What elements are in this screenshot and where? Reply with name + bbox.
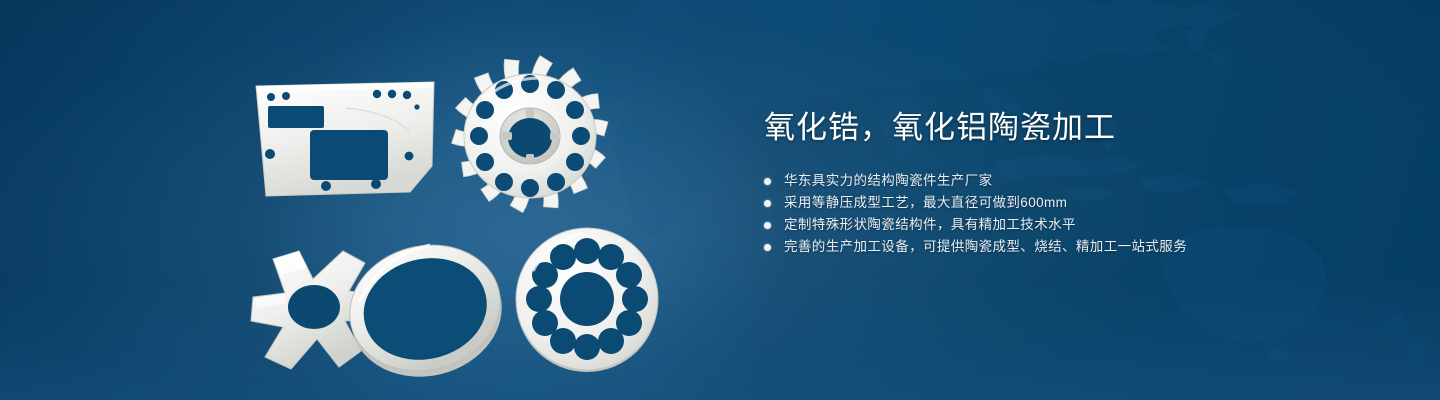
hero-banner: 氧化锆，氧化铝陶瓷加工 华东具实力的结构陶瓷件生产厂家 采用等静压成型工艺，最大… [0,0,1440,400]
bullet-dot-icon [764,244,771,251]
feature-list: 华东具实力的结构陶瓷件生产厂家 采用等静压成型工艺，最大直径可做到600mm 定… [764,170,1404,258]
list-item: 定制特殊形状陶瓷结构件，具有精加工技术水平 [764,214,1404,236]
ceramic-plate-image [250,80,440,205]
list-item: 华东具实力的结构陶瓷件生产厂家 [764,170,1404,192]
feature-text: 华东具实力的结构陶瓷件生产厂家 [784,170,993,192]
page-title: 氧化锆，氧化铝陶瓷加工 [764,108,1404,148]
bullet-dot-icon [764,178,771,185]
background-sheen [0,280,1440,400]
feature-text: 定制特殊形状陶瓷结构件，具有精加工技术水平 [784,214,1076,236]
ceramic-ring-image [335,228,515,388]
feature-text: 采用等静压成型工艺，最大直径可做到600mm [784,192,1067,214]
feature-text: 完善的生产加工设备，可提供陶瓷成型、烧结、精加工一站式服务 [784,236,1187,258]
banner-copy: 氧化锆，氧化铝陶瓷加工 华东具实力的结构陶瓷件生产厂家 采用等静压成型工艺，最大… [764,108,1404,258]
bullet-dot-icon [764,200,771,207]
ceramic-impeller-image [440,44,620,224]
ceramic-perforated-disc-image [513,225,663,375]
list-item: 完善的生产加工设备，可提供陶瓷成型、烧结、精加工一站式服务 [764,236,1404,258]
product-photo-cluster [225,40,685,380]
bullet-dot-icon [764,222,771,229]
list-item: 采用等静压成型工艺，最大直径可做到600mm [764,192,1404,214]
